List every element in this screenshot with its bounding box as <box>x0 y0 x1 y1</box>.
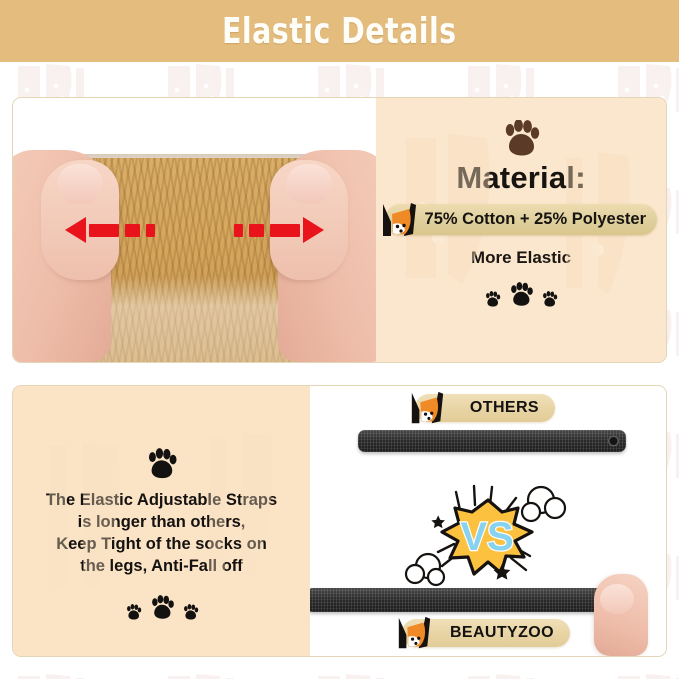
strap-claim-card: The Elastic Adjustable Straps is longer … <box>13 386 310 656</box>
material-info-card: Material: 75% Cotton + 25% Polyester Mor… <box>376 98 666 362</box>
beautyzoo-dog-logo-icon <box>378 200 420 240</box>
left-thumbnail <box>57 164 103 204</box>
beautyzoo-label-pill: BEAUTYZOO <box>402 619 570 647</box>
paw-divider-icon <box>125 595 199 621</box>
sock-stretch-photo <box>13 98 376 362</box>
header-banner: Elastic Details <box>0 0 679 62</box>
strap-comparison-photos: OTHERS VS <box>310 386 666 656</box>
paw-divider-icon <box>484 282 558 308</box>
beautyzoo-dog-logo-icon <box>407 389 447 427</box>
beautyzoo-label-text: BEAUTYZOO <box>450 624 554 642</box>
beautyzoo-dog-logo-icon <box>394 614 434 652</box>
strap-claim-text: The Elastic Adjustable Straps is longer … <box>46 490 277 578</box>
paw-print-icon <box>145 448 178 481</box>
elastic-material-panel: Material: 75% Cotton + 25% Polyester Mor… <box>12 97 667 363</box>
holding-hand <box>594 574 648 656</box>
material-composition-text: 75% Cotton + 25% Polyester <box>425 210 646 229</box>
page-title: Elastic Details <box>222 11 457 52</box>
more-elastic-text: More Elastic <box>471 248 571 268</box>
others-label-pill: OTHERS <box>415 394 555 422</box>
strap-eyelet-icon <box>608 436 619 447</box>
vs-burst-icon: VS <box>398 478 578 596</box>
others-strap-image <box>358 430 626 452</box>
stretch-arrow-right-icon <box>231 218 324 242</box>
material-composition-pill: 75% Cotton + 25% Polyester <box>385 204 657 235</box>
material-heading: Material: <box>456 160 585 196</box>
paw-print-icon <box>501 120 541 158</box>
others-label-text: OTHERS <box>470 399 539 417</box>
vs-text: VS <box>460 515 513 559</box>
stretch-arrow-left-icon <box>65 218 158 242</box>
beautyzoo-strap-image <box>310 588 628 612</box>
right-thumbnail <box>286 164 332 204</box>
strap-comparison-panel: The Elastic Adjustable Straps is longer … <box>12 385 667 657</box>
